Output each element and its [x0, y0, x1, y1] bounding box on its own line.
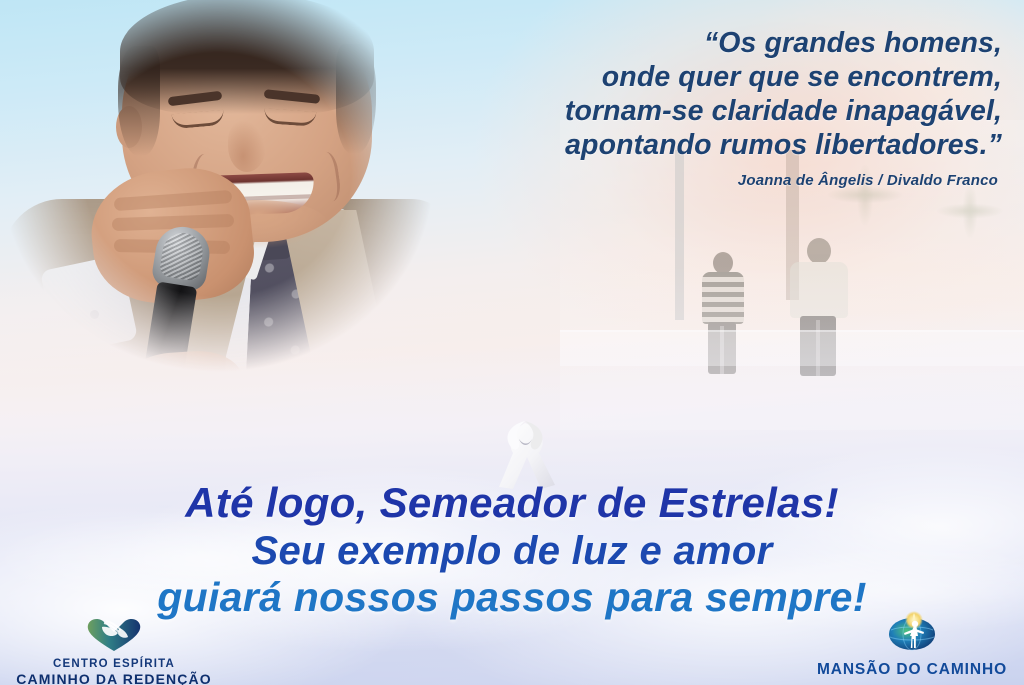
ring — [182, 386, 200, 398]
hair-side-right — [336, 44, 376, 154]
nose — [228, 120, 266, 172]
logo-left-line-2: CAMINHO DA REDENÇÃO — [8, 671, 220, 685]
headline-block: Até logo, Semeador de Estrelas! Seu exem… — [0, 482, 1024, 618]
quote-line-1: “Os grandes homens, — [382, 26, 1002, 60]
hair-side-left — [118, 46, 160, 156]
quote-text: “Os grandes homens, onde quer que se enc… — [382, 26, 1002, 162]
quote-attribution: Joanna de Ângelis / Divaldo Franco — [738, 172, 998, 189]
headline-line-2: Seu exemplo de luz e amor — [0, 531, 1024, 571]
logo-right-line-1: MANSÃO DO CAMINHO — [806, 661, 1018, 679]
quote-line-2: onde quer que se encontrem, — [382, 60, 1002, 94]
memorial-poster: “Os grandes homens, onde quer que se enc… — [0, 0, 1024, 685]
cuff-button — [90, 310, 99, 319]
logo-mansao-do-caminho: MANSÃO DO CAMINHO — [806, 610, 1018, 679]
headline-line-1: Até logo, Semeador de Estrelas! — [0, 482, 1024, 524]
quote-line-3: tornam-se claridade inapagável, — [382, 94, 1002, 128]
logo-centro-espirita: CENTRO ESPÍRITA CAMINHO DA REDENÇÃO — [8, 616, 220, 685]
quote-line-4: apontando rumos libertadores.” — [382, 128, 1002, 162]
heart-hands-icon — [8, 616, 220, 657]
palm-tree-icon — [810, 150, 920, 240]
logo-left-line-1: CENTRO ESPÍRITA — [8, 658, 220, 670]
globe-figure-torch-icon — [806, 610, 1018, 659]
